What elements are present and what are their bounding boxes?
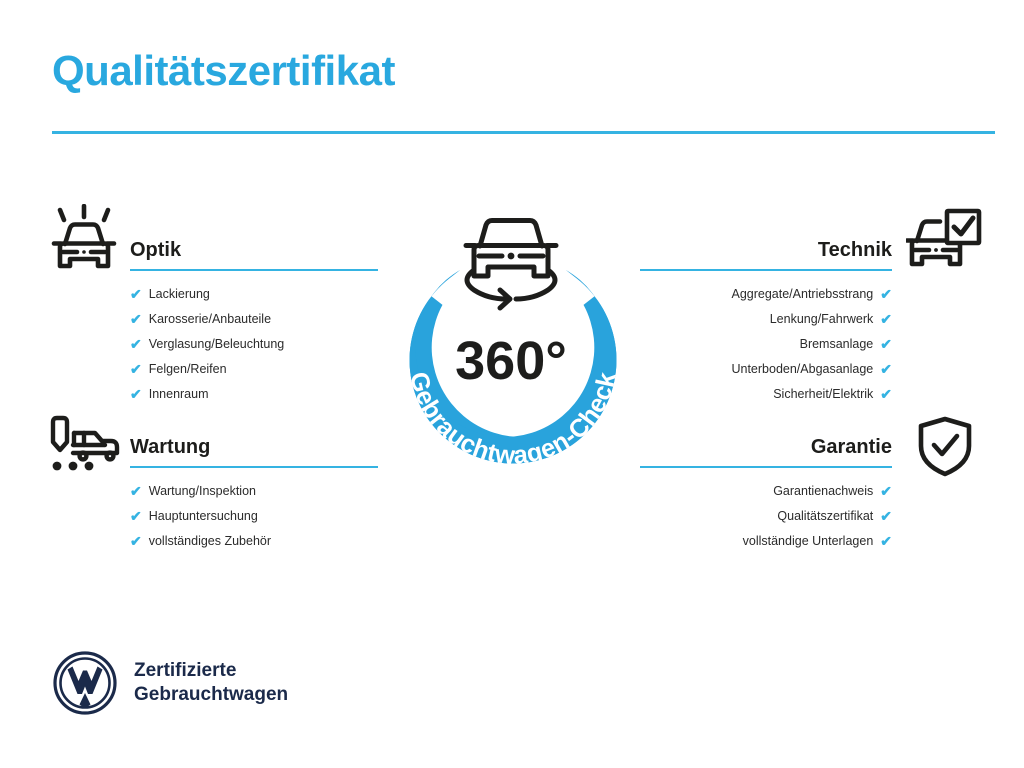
list-item: Garantienachweis✔ [640, 484, 892, 509]
section-wartung-divider [130, 466, 378, 468]
section-optik-list: ✔Lackierung ✔Karosserie/Anbauteile ✔Verg… [130, 287, 378, 412]
list-item: Aggregate/Antriebsstrang✔ [640, 287, 892, 312]
list-item: Qualitätszertifikat✔ [640, 509, 892, 534]
badge-center-text: 360° [455, 331, 567, 391]
check-icon: ✔ [130, 534, 142, 548]
check-icon: ✔ [130, 287, 142, 301]
list-item: ✔Lackierung [130, 287, 378, 312]
list-item-label: Sicherheit/Elektrik [773, 388, 873, 401]
check-icon: ✔ [880, 312, 892, 326]
list-item: ✔vollständiges Zubehör [130, 534, 378, 559]
check-icon: ✔ [880, 362, 892, 376]
list-item-label: Aggregate/Antriebsstrang [732, 288, 874, 301]
section-optik-heading: Optik [130, 240, 378, 260]
section-optik-divider [130, 269, 378, 271]
section-technik-divider [640, 269, 892, 271]
section-garantie: Garantie Garantienachweis✔ Qualitätszert… [640, 437, 892, 559]
list-item: ✔Felgen/Reifen [130, 362, 378, 387]
center-badge: Gebrauchtwagen-Check 360° [380, 196, 646, 506]
check-icon: ✔ [880, 287, 892, 301]
check-icon: ✔ [880, 387, 892, 401]
list-item-label: Verglasung/Beleuchtung [149, 338, 285, 351]
footer-logo-line2: Gebrauchtwagen [134, 683, 288, 707]
check-icon: ✔ [130, 362, 142, 376]
section-technik: Technik Aggregate/Antriebsstrang✔ Lenkun… [640, 240, 892, 412]
list-item-label: Wartung/Inspektion [149, 485, 256, 498]
section-garantie-list: Garantienachweis✔ Qualitätszertifikat✔ v… [640, 484, 892, 559]
list-item-label: Garantienachweis [773, 485, 873, 498]
list-item: Lenkung/Fahrwerk✔ [640, 312, 892, 337]
check-icon: ✔ [880, 484, 892, 498]
list-item-label: vollständige Unterlagen [743, 535, 874, 548]
section-technik-list: Aggregate/Antriebsstrang✔ Lenkung/Fahrwe… [640, 287, 892, 412]
section-wartung-list: ✔Wartung/Inspektion ✔Hauptuntersuchung ✔… [130, 484, 378, 559]
car-shine-icon [46, 204, 122, 281]
list-item: ✔Verglasung/Beleuchtung [130, 337, 378, 362]
page-title: Qualitätszertifikat [52, 50, 395, 92]
vw-logo [52, 650, 118, 716]
list-item: ✔Wartung/Inspektion [130, 484, 378, 509]
list-item: Unterboden/Abgasanlage✔ [640, 362, 892, 387]
check-icon: ✔ [130, 387, 142, 401]
list-item-label: Lenkung/Fahrwerk [770, 313, 874, 326]
section-wartung-heading: Wartung [130, 437, 378, 457]
list-item-label: Hauptuntersuchung [149, 510, 258, 523]
section-wartung: Wartung ✔Wartung/Inspektion ✔Hauptunters… [130, 437, 378, 559]
section-technik-heading: Technik [640, 240, 892, 260]
list-item-label: Qualitätszertifikat [777, 510, 873, 523]
list-item: Bremsanlage✔ [640, 337, 892, 362]
check-icon: ✔ [130, 337, 142, 351]
list-item: ✔Karosserie/Anbauteile [130, 312, 378, 337]
footer-logo-text: Zertifizierte Gebrauchtwagen [134, 659, 288, 707]
list-item: Sicherheit/Elektrik✔ [640, 387, 892, 412]
list-item-label: Karosserie/Anbauteile [149, 313, 271, 326]
check-icon: ✔ [130, 509, 142, 523]
check-icon: ✔ [130, 312, 142, 326]
list-item-label: Bremsanlage [800, 338, 874, 351]
section-garantie-heading: Garantie [640, 437, 892, 457]
car-rotate-icon [466, 221, 556, 309]
car-service-icon [47, 414, 123, 481]
list-item-label: Lackierung [149, 288, 210, 301]
car-checkbox-icon [906, 208, 984, 279]
shield-check-icon [917, 416, 973, 483]
list-item: ✔Hauptuntersuchung [130, 509, 378, 534]
check-icon: ✔ [130, 484, 142, 498]
list-item: vollständige Unterlagen✔ [640, 534, 892, 559]
check-icon: ✔ [880, 534, 892, 548]
list-item-label: Unterboden/Abgasanlage [731, 363, 873, 376]
section-garantie-divider [640, 466, 892, 468]
list-item-label: vollständiges Zubehör [149, 535, 271, 548]
check-icon: ✔ [880, 509, 892, 523]
footer-logo: Zertifizierte Gebrauchtwagen [52, 650, 288, 716]
title-divider [52, 131, 995, 134]
section-optik: Optik ✔Lackierung ✔Karosserie/Anbauteile… [130, 240, 378, 412]
footer-logo-line1: Zertifizierte [134, 659, 288, 683]
list-item: ✔Innenraum [130, 387, 378, 412]
list-item-label: Felgen/Reifen [149, 363, 227, 376]
check-icon: ✔ [880, 337, 892, 351]
list-item-label: Innenraum [149, 388, 209, 401]
